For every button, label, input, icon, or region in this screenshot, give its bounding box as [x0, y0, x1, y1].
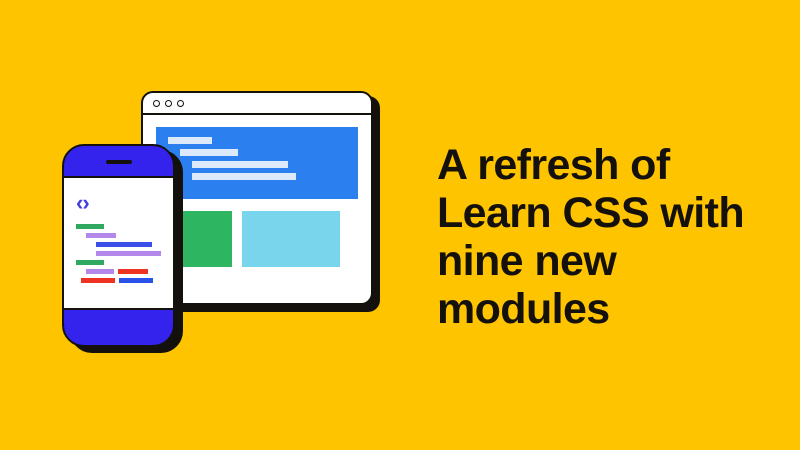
code-line: [76, 224, 161, 229]
content-card-cyan: [242, 211, 340, 267]
code-line: [76, 260, 161, 265]
hero-bar-3: [192, 161, 288, 168]
headline-line-1: A refresh of: [437, 141, 782, 189]
code-lines: [76, 224, 161, 283]
page-title: A refresh of Learn CSS with nine new mod…: [437, 141, 782, 334]
hero-bar-1: [168, 137, 212, 144]
code-line-segment: [96, 242, 152, 247]
code-line-segment: [81, 278, 115, 283]
code-line-segment: [118, 269, 148, 274]
headline-line-3: nine new: [437, 237, 782, 285]
headline-line-4: modules: [437, 285, 782, 333]
headline-line-2: Learn CSS with: [437, 189, 782, 237]
code-line-segment: [86, 269, 114, 274]
promo-banner: ‹› A refresh of Learn CSS with nine new …: [0, 0, 800, 450]
code-line: [76, 242, 161, 247]
hero-bar-2: [180, 149, 238, 156]
phone-screen: ‹›: [64, 176, 173, 310]
code-line-segment: [76, 260, 104, 265]
code-line-segment: [76, 224, 104, 229]
browser-and-phone-illustration: ‹›: [0, 0, 430, 450]
window-dot-2-icon: [165, 100, 172, 107]
hero-block: [156, 127, 358, 199]
code-line-segment: [86, 233, 116, 238]
content-cards: [156, 211, 358, 267]
code-line: [76, 269, 161, 274]
code-brackets-icon: ‹›: [76, 192, 161, 214]
code-line-segment: [96, 251, 161, 256]
code-line: [76, 278, 161, 283]
code-line: [76, 233, 161, 238]
code-line: [76, 251, 161, 256]
window-dot-1-icon: [153, 100, 160, 107]
hero-bar-4: [192, 173, 296, 180]
code-line-segment: [119, 278, 153, 283]
browser-titlebar: [143, 93, 371, 115]
phone-speaker-icon: [106, 160, 132, 164]
smartphone: ‹›: [62, 144, 175, 347]
window-dot-3-icon: [177, 100, 184, 107]
